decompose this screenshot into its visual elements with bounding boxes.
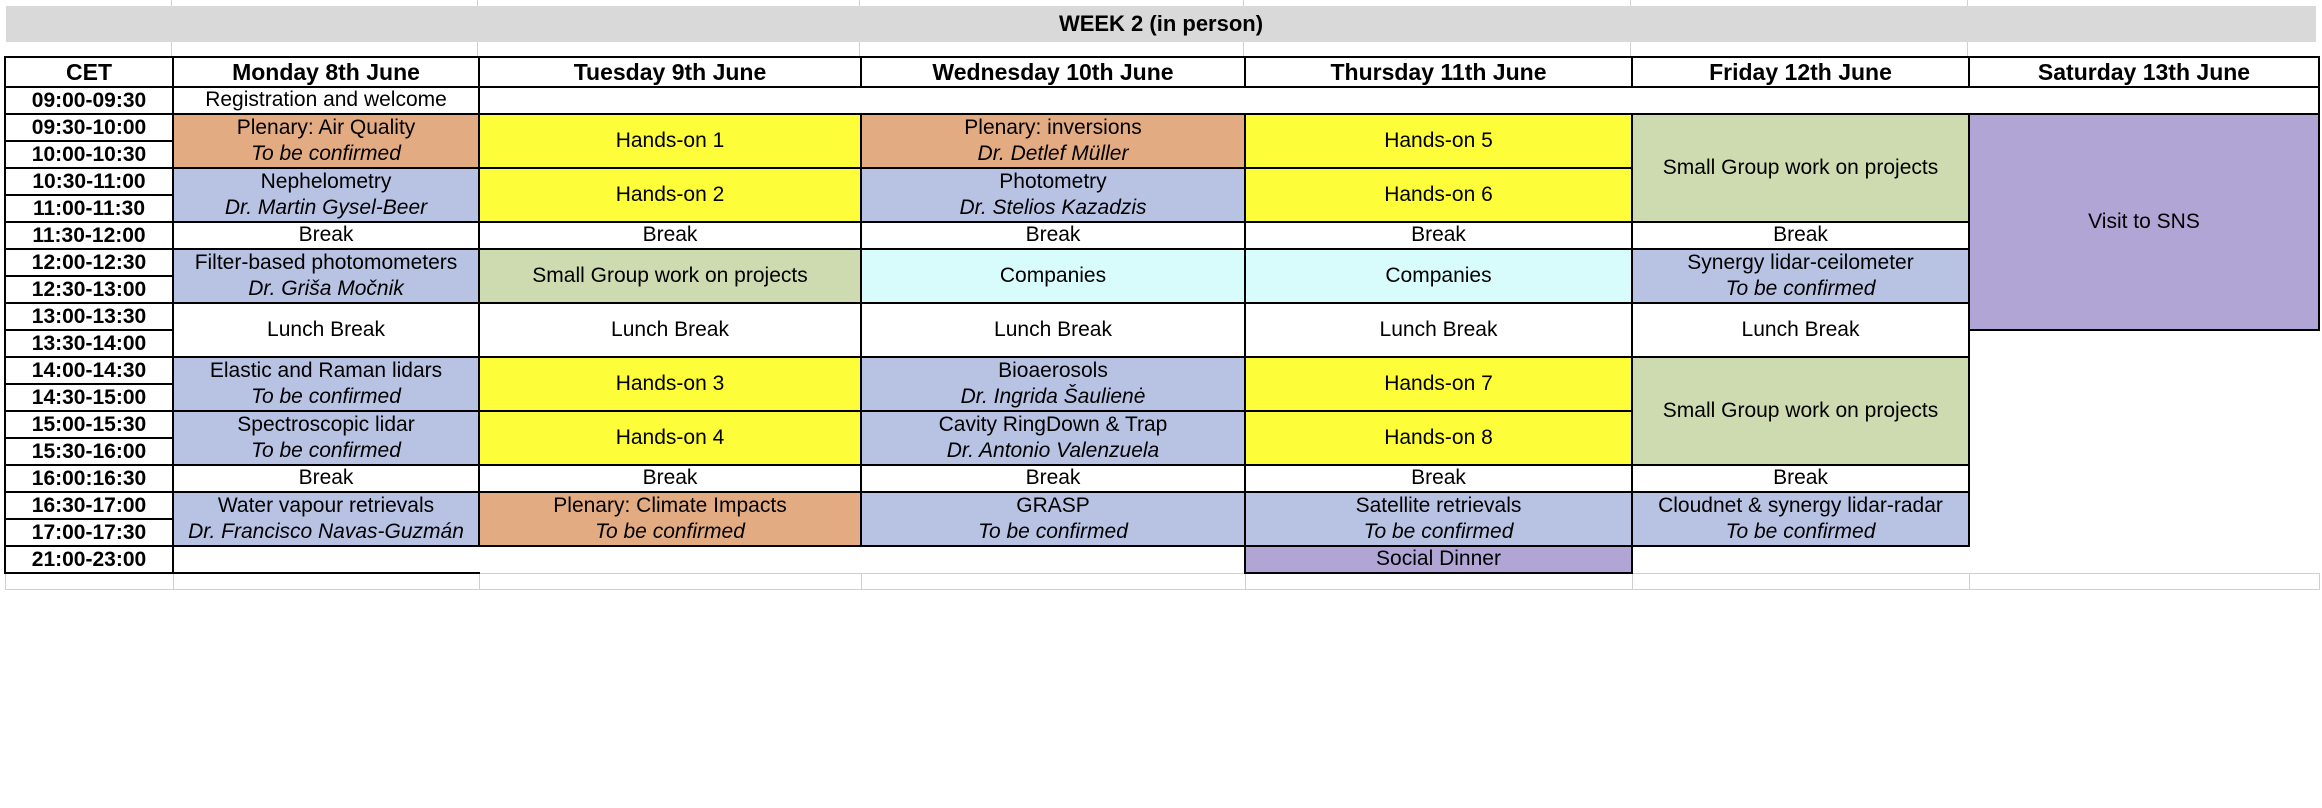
spacer-cell	[0, 42, 172, 56]
slot-title: Hands-on 6	[1250, 184, 1627, 207]
col-header-monday: Monday 8th June	[173, 57, 479, 87]
slot-wed-1100[interactable]: Dr. Stelios Kazadzis	[861, 195, 1245, 222]
time-label: 13:00-13:30	[5, 303, 173, 330]
banner-spacer-row	[0, 42, 2322, 56]
slot-thu-1300[interactable]: Lunch Break	[1245, 303, 1632, 357]
slot-wed-1200[interactable]: Companies	[861, 249, 1245, 303]
slot-title: Cavity RingDown & Trap	[866, 414, 1240, 437]
slot-title: Filter-based photomometers	[178, 252, 474, 275]
slot-wed-1600[interactable]: Break	[861, 465, 1245, 492]
trailing-cell	[479, 573, 861, 589]
slot-wed-0900	[861, 87, 1245, 114]
slot-subtitle: To be confirmed	[1637, 278, 1964, 301]
slot-tue-1300[interactable]: Lunch Break	[479, 303, 861, 357]
slot-thu-1030[interactable]: Hands-on 6	[1245, 168, 1632, 222]
slot-title: Lunch Break	[1637, 319, 1964, 342]
slot-title: Small Group work on projects	[1637, 400, 1964, 423]
slot-title: Hands-on 5	[1250, 130, 1627, 153]
slot-mon-1030[interactable]: Nephelometry	[173, 168, 479, 195]
slot-subtitle: Dr. Antonio Valenzuela	[866, 440, 1240, 463]
slot-tue-1130[interactable]: Break	[479, 222, 861, 249]
col-header-cet: CET	[5, 57, 173, 87]
slot-subtitle: To be confirmed	[178, 386, 474, 409]
time-label: 12:30-13:00	[5, 276, 173, 303]
trailing-cell	[1969, 573, 2319, 589]
slot-fri-1230[interactable]: To be confirmed	[1632, 276, 1969, 303]
slot-mon-1200[interactable]: Filter-based photomometers	[173, 249, 479, 276]
slot-title: Break	[484, 224, 856, 247]
col-header-thursday: Thursday 11th June	[1245, 57, 1632, 87]
slot-fri-2100	[1632, 546, 1969, 573]
slot-sat-visit[interactable]: Visit to SNS	[1969, 114, 2319, 330]
table-row: 14:00-14:30 Elastic and Raman lidars Han…	[5, 357, 2319, 384]
spacer-cell	[478, 42, 860, 56]
slot-fri-1130[interactable]: Break	[1632, 222, 1969, 249]
slot-subtitle: Dr. Ingrida Šaulienė	[866, 386, 1240, 409]
slot-fri-0930-group[interactable]: Small Group work on projects	[1632, 114, 1969, 222]
slot-tue-2100	[479, 546, 861, 573]
slot-tue-1600[interactable]: Break	[479, 465, 861, 492]
slot-title: Lunch Break	[484, 319, 856, 342]
slot-title: Cloudnet & synergy lidar-radar	[1637, 495, 1964, 518]
slot-wed-2100	[861, 546, 1245, 573]
schedule-table: CET Monday 8th June Tuesday 9th June Wed…	[4, 56, 2320, 590]
time-label: 10:30-11:00	[5, 168, 173, 195]
trailing-cell	[5, 573, 173, 589]
slot-mon-1100[interactable]: Dr. Martin Gysel-Beer	[173, 195, 479, 222]
slot-subtitle: Dr. Martin Gysel-Beer	[178, 197, 474, 220]
slot-title: Plenary: inversions	[866, 117, 1240, 140]
slot-title: Plenary: Climate Impacts	[484, 495, 856, 518]
slot-mon-1230[interactable]: Dr. Griša Močnik	[173, 276, 479, 303]
slot-title: Lunch Break	[866, 319, 1240, 342]
slot-fri-1600[interactable]: Break	[1632, 465, 1969, 492]
slot-title: Bioaerosols	[866, 360, 1240, 383]
slot-mon-1630[interactable]: Water vapour retrievals	[173, 492, 479, 519]
slot-wed-1530[interactable]: Dr. Antonio Valenzuela	[861, 438, 1245, 465]
slot-fri-1700[interactable]: To be confirmed	[1632, 519, 1969, 546]
slot-tue-1500[interactable]: Hands-on 4	[479, 411, 861, 465]
slot-title: Break	[178, 224, 474, 247]
slot-title: Hands-on 2	[484, 184, 856, 207]
time-label: 14:00-14:30	[5, 357, 173, 384]
week-title: WEEK 2 (in person)	[1059, 11, 1263, 37]
slot-title: Elastic and Raman lidars	[178, 360, 474, 383]
slot-subtitle: To be confirmed	[1250, 521, 1627, 544]
slot-title: Break	[484, 467, 856, 490]
trailing-cell	[1632, 573, 1969, 589]
col-header-saturday: Saturday 13th June	[1969, 57, 2319, 87]
slot-subtitle: Dr. Francisco Navas-Guzmán	[178, 521, 474, 544]
slot-mon-1000[interactable]: To be confirmed	[173, 141, 479, 168]
slot-title: GRASP	[866, 495, 1240, 518]
slot-title: Registration and welcome	[178, 89, 474, 112]
slot-sat-0900	[1969, 87, 2319, 114]
slot-wed-1300[interactable]: Lunch Break	[861, 303, 1245, 357]
slot-title: Break	[178, 467, 474, 490]
slot-thu-1500[interactable]: Hands-on 8	[1245, 411, 1632, 465]
slot-title: Break	[866, 224, 1240, 247]
time-label: 11:00-11:30	[5, 195, 173, 222]
slot-mon-1700[interactable]: Dr. Francisco Navas-Guzmán	[173, 519, 479, 546]
slot-title: Small Group work on projects	[484, 265, 856, 288]
table-row-trailing	[5, 573, 2319, 589]
slot-title: Small Group work on projects	[1637, 157, 1964, 180]
slot-title: Satellite retrievals	[1250, 495, 1627, 518]
spacer-cell	[860, 42, 1244, 56]
col-header-friday: Friday 12th June	[1632, 57, 1969, 87]
slot-fri-1200[interactable]: Synergy lidar-ceilometer	[1632, 249, 1969, 276]
trailing-cell	[1245, 573, 1632, 589]
slot-subtitle: To be confirmed	[484, 521, 856, 544]
time-label: 10:00-10:30	[5, 141, 173, 168]
slot-thu-1700[interactable]: To be confirmed	[1245, 519, 1632, 546]
slot-tue-1030[interactable]: Hands-on 2	[479, 168, 861, 222]
slot-title: Lunch Break	[1250, 319, 1627, 342]
slot-title: Hands-on 3	[484, 373, 856, 396]
slot-title: Water vapour retrievals	[178, 495, 474, 518]
spacer-cell	[172, 42, 478, 56]
slot-wed-1130[interactable]: Break	[861, 222, 1245, 249]
slot-title: Visit to SNS	[1974, 211, 2314, 234]
slot-wed-0930[interactable]: Plenary: inversions	[861, 114, 1245, 141]
table-header-row: CET Monday 8th June Tuesday 9th June Wed…	[5, 57, 2319, 87]
slot-wed-1400[interactable]: Bioaerosols	[861, 357, 1245, 384]
time-label: 15:30-16:00	[5, 438, 173, 465]
slot-title: Companies	[1250, 265, 1627, 288]
slot-tue-0900	[479, 87, 861, 114]
slot-wed-1430[interactable]: Dr. Ingrida Šaulienė	[861, 384, 1245, 411]
slot-mon-1300[interactable]: Lunch Break	[173, 303, 479, 357]
slot-title: Break	[1637, 467, 1964, 490]
slot-tue-1700[interactable]: To be confirmed	[479, 519, 861, 546]
slot-tue-0930[interactable]: Hands-on 1	[479, 114, 861, 168]
slot-title: Hands-on 8	[1250, 427, 1627, 450]
slot-title: Break	[1250, 224, 1627, 247]
slot-title: Lunch Break	[178, 319, 474, 342]
schedule-page: WEEK 2 (in person) CET Monday 8th June T…	[0, 0, 2322, 808]
slot-wed-1500[interactable]: Cavity RingDown & Trap	[861, 411, 1245, 438]
slot-title: Break	[1637, 224, 1964, 247]
slot-subtitle: To be confirmed	[866, 521, 1240, 544]
time-label: 14:30-15:00	[5, 384, 173, 411]
slot-title: Spectroscopic lidar	[178, 414, 474, 437]
trailing-cell	[173, 573, 479, 589]
slot-title: Photometry	[866, 171, 1240, 194]
slot-mon-0900[interactable]: Registration and welcome	[173, 87, 479, 114]
slot-wed-1700[interactable]: To be confirmed	[861, 519, 1245, 546]
slot-subtitle: Dr. Stelios Kazadzis	[866, 197, 1240, 220]
slot-thu-1630[interactable]: Satellite retrievals	[1245, 492, 1632, 519]
slot-title: Break	[866, 467, 1240, 490]
slot-title: Companies	[866, 265, 1240, 288]
time-label: 17:00-17:30	[5, 519, 173, 546]
time-label: 12:00-12:30	[5, 249, 173, 276]
slot-subtitle: To be confirmed	[178, 440, 474, 463]
slot-mon-2100	[173, 546, 479, 573]
slot-title: Plenary: Air Quality	[178, 117, 474, 140]
slot-wed-1630[interactable]: GRASP	[861, 492, 1245, 519]
table-row: 09:30-10:00 Plenary: Air Quality Hands-o…	[5, 114, 2319, 141]
slot-title: Nephelometry	[178, 171, 474, 194]
slot-subtitle: Dr. Detlef Müller	[866, 143, 1240, 166]
slot-tue-1200[interactable]: Small Group work on projects	[479, 249, 861, 303]
slot-mon-1530[interactable]: To be confirmed	[173, 438, 479, 465]
col-header-tuesday: Tuesday 9th June	[479, 57, 861, 87]
slot-title: Synergy lidar-ceilometer	[1637, 252, 1964, 275]
col-header-wednesday: Wednesday 10th June	[861, 57, 1245, 87]
slot-thu-1400[interactable]: Hands-on 7	[1245, 357, 1632, 411]
slot-title: Hands-on 1	[484, 130, 856, 153]
slot-mon-0930[interactable]: Plenary: Air Quality	[173, 114, 479, 141]
time-label: 09:30-10:00	[5, 114, 173, 141]
trailing-cell	[861, 573, 1245, 589]
slot-thu-1600[interactable]: Break	[1245, 465, 1632, 492]
slot-thu-social-dinner[interactable]: Social Dinner	[1245, 546, 1632, 573]
slot-mon-1430[interactable]: To be confirmed	[173, 384, 479, 411]
slot-fri-1400-group[interactable]: Small Group work on projects	[1632, 357, 1969, 465]
time-label: 16:00:16:30	[5, 465, 173, 492]
slot-thu-1130[interactable]: Break	[1245, 222, 1632, 249]
time-label: 16:30-17:00	[5, 492, 173, 519]
spacer-cell	[1631, 42, 1968, 56]
slot-title: Social Dinner	[1250, 548, 1627, 571]
spacer-cell	[1968, 42, 2322, 56]
slot-mon-1500[interactable]: Spectroscopic lidar	[173, 411, 479, 438]
slot-wed-1000[interactable]: Dr. Detlef Müller	[861, 141, 1245, 168]
slot-title: Hands-on 4	[484, 427, 856, 450]
time-label: 09:00-09:30	[5, 87, 173, 114]
slot-subtitle: Dr. Griša Močnik	[178, 278, 474, 301]
slot-thu-1200[interactable]: Companies	[1245, 249, 1632, 303]
slot-tue-1630[interactable]: Plenary: Climate Impacts	[479, 492, 861, 519]
time-label: 11:30-12:00	[5, 222, 173, 249]
slot-mon-1130[interactable]: Break	[173, 222, 479, 249]
time-label: 13:30-14:00	[5, 330, 173, 357]
week-banner: WEEK 2 (in person)	[6, 6, 2316, 42]
slot-subtitle: To be confirmed	[1637, 521, 1964, 544]
slot-title: Hands-on 7	[1250, 373, 1627, 396]
slot-mon-1600[interactable]: Break	[173, 465, 479, 492]
slot-thu-0930[interactable]: Hands-on 5	[1245, 114, 1632, 168]
slot-mon-1400[interactable]: Elastic and Raman lidars	[173, 357, 479, 384]
slot-fri-1630[interactable]: Cloudnet & synergy lidar-radar	[1632, 492, 1969, 519]
slot-sat-empty	[1969, 357, 2319, 573]
spacer-cell	[1244, 42, 1631, 56]
time-label: 15:00-15:30	[5, 411, 173, 438]
slot-tue-1400[interactable]: Hands-on 3	[479, 357, 861, 411]
slot-thu-0900	[1245, 87, 1632, 114]
slot-subtitle: To be confirmed	[178, 143, 474, 166]
slot-wed-1030[interactable]: Photometry	[861, 168, 1245, 195]
slot-fri-1300[interactable]: Lunch Break	[1632, 303, 1969, 357]
slot-title: Break	[1250, 467, 1627, 490]
time-label: 21:00-23:00	[5, 546, 173, 573]
slot-fri-0900	[1632, 87, 1969, 114]
table-row: 09:00-09:30 Registration and welcome	[5, 87, 2319, 114]
